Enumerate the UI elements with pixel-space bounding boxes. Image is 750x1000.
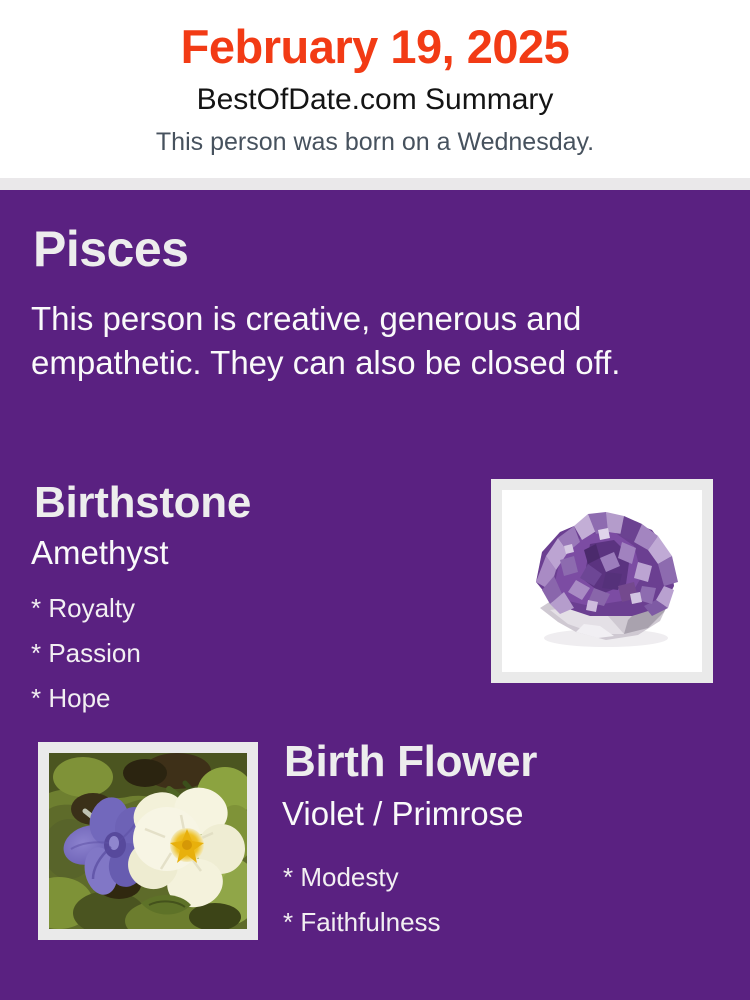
amethyst-crystal-cluster-icon [502,490,702,672]
birthstone-trait: * Royalty [31,586,451,631]
header-site-title: BestOfDate.com Summary [0,85,750,115]
header-divider [0,178,750,190]
violet-and-primrose-flowers-icon [49,753,247,929]
amethyst-photo [502,490,702,672]
zodiac-description: This person is creative, generous and em… [31,297,711,385]
birth-flower-heading: Birth Flower [284,740,537,784]
birthstone-name: Amethyst [31,536,169,569]
zodiac-sign-title: Pisces [33,224,188,274]
birthstone-image-frame [491,479,713,683]
birth-flower-trait: * Faithfulness [283,900,713,945]
header: February 19, 2025 BestOfDate.com Summary… [0,0,750,178]
birth-flower-name: Violet / Primrose [282,797,523,830]
violet-primrose-photo [49,753,247,929]
birthstone-trait-list: * Royalty * Passion * Hope [31,586,451,721]
birthstone-heading: Birthstone [34,481,251,525]
summary-card: February 19, 2025 BestOfDate.com Summary… [0,0,750,1000]
birth-flower-trait: * Modesty [283,855,713,900]
header-date: February 19, 2025 [0,23,750,70]
birthstone-trait: * Hope [31,676,451,721]
birthstone-trait: * Passion [31,631,451,676]
header-born-day: This person was born on a Wednesday. [0,130,750,155]
birth-flower-image-frame [38,742,258,940]
birth-flower-trait-list: * Modesty * Faithfulness [283,855,713,945]
